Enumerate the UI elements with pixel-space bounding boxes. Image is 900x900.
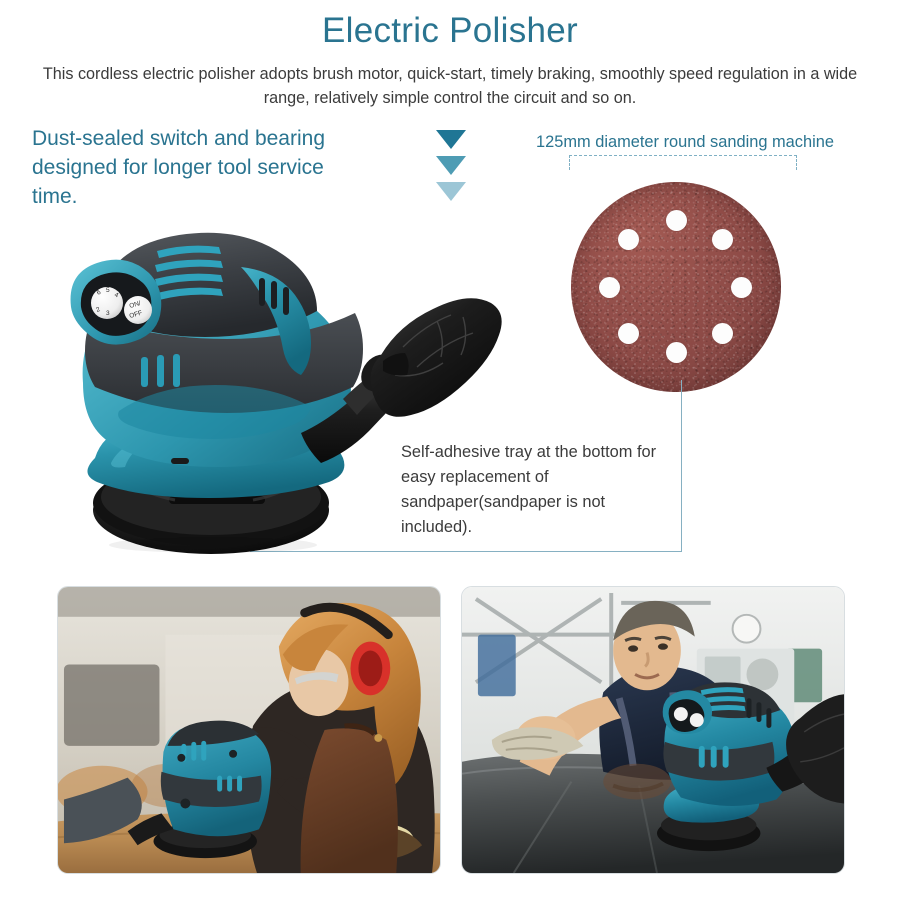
tool-shadow	[109, 537, 317, 553]
bg-wall-clock	[733, 615, 761, 643]
photo-man-polishing-car	[461, 586, 845, 874]
intro-paragraph: This cordless electric polisher adopts b…	[30, 62, 870, 110]
hood-reflection-hand	[603, 764, 671, 800]
tool-bolt-2	[229, 750, 237, 758]
tool-mid-vents-2	[699, 746, 729, 768]
chevron-down-icon	[436, 182, 466, 201]
svg-text:3: 3	[106, 310, 110, 317]
photo-woman-sanding-wood	[57, 586, 441, 874]
tool-mid-vents-photo	[217, 776, 242, 792]
bg-fan	[747, 659, 779, 691]
sanding-disc-image	[571, 182, 781, 392]
page-title: Electric Polisher	[0, 8, 900, 54]
sanding-disc-label: 125mm diameter round sanding machine	[505, 131, 865, 153]
speed-dial-2	[674, 707, 688, 721]
chevron-down-icon	[436, 156, 466, 175]
tool-latch	[171, 458, 189, 464]
ear-defender-cup-inner	[358, 651, 382, 687]
disc-hole	[666, 210, 687, 231]
feature-headline: Dust-sealed switch and bearing designed …	[32, 124, 362, 211]
callout-leader-line-vertical	[681, 380, 682, 552]
chevron-down-icon	[436, 130, 466, 149]
tool-vents-lower	[141, 354, 180, 387]
bg-poster-left	[478, 635, 516, 697]
disc-hole	[731, 277, 752, 298]
disc-hole	[712, 323, 733, 344]
disc-hole	[666, 342, 687, 363]
tool-bolt-3	[180, 799, 190, 809]
dimension-bracket	[569, 155, 797, 170]
tool-bolt-1	[177, 754, 185, 762]
bg-dark-panel	[64, 664, 160, 745]
disc-hole	[599, 277, 620, 298]
apron-rivet	[374, 734, 382, 742]
infographic-page: Electric Polisher This cordless electric…	[0, 0, 900, 900]
polisher-tool-image: 6 5 4 2 3 ON/ OFF	[45, 215, 515, 555]
svg-text:5: 5	[106, 287, 110, 294]
power-switch-2	[690, 713, 704, 727]
